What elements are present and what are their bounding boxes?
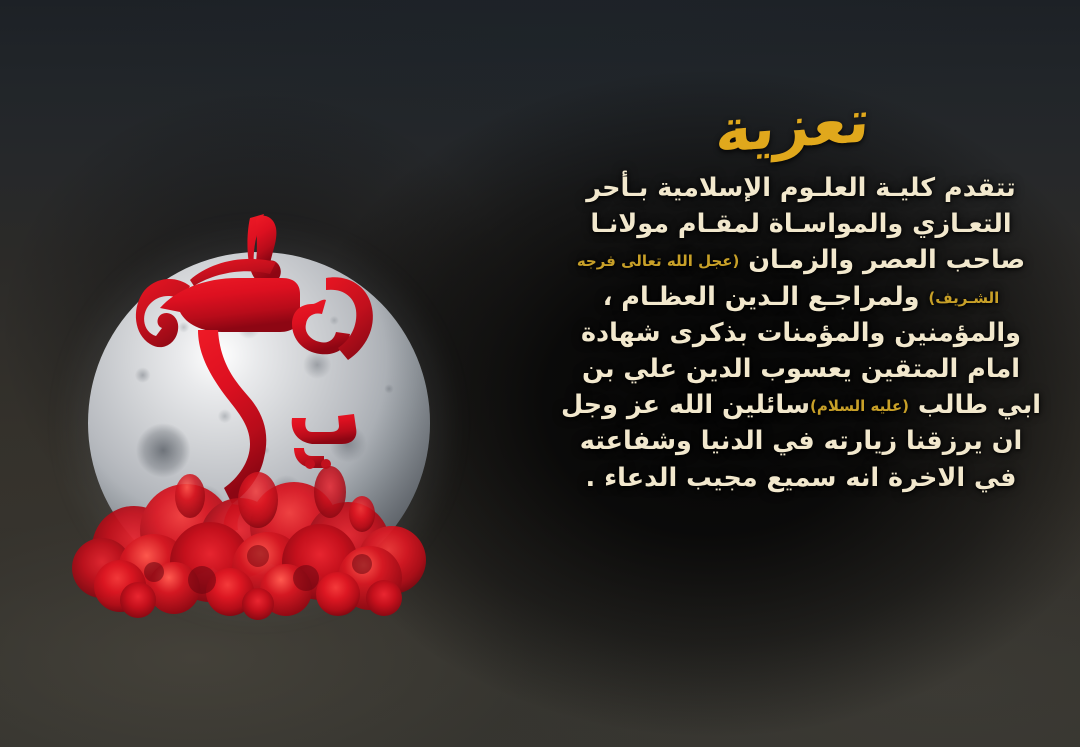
- full-moon-icon: [88, 252, 430, 594]
- body-line-3: صاحب العصر والزمـان (عجل الله تعالى فرجه: [540, 242, 1062, 278]
- annotation-alayhi-salam: (عليه السلام): [810, 397, 909, 415]
- condolence-poster: تعزية تتقدم كليـة العلـوم الإسلامية بـأح…: [0, 0, 1080, 747]
- body-line-5: والمؤمنين والمؤمنات بذكرى شهادة: [540, 315, 1062, 351]
- body-line-1: تتقدم كليـة العلـوم الإسلامية بـأحر: [540, 170, 1062, 206]
- body-line-4-text: ولمراجـع الـدين العظـام ،: [603, 282, 929, 312]
- body-line-4: الشـريف) ولمراجـع الـدين العظـام ،: [540, 279, 1062, 315]
- annotation-ajjalallah: (عجل الله تعالى فرجه: [577, 252, 740, 270]
- moon-artwork: [62, 226, 462, 646]
- moon-wrapper: [88, 252, 430, 594]
- body-line-7: ابي طالب (عليه السلام)سائلين الله عز وجل: [540, 387, 1062, 423]
- body-line-7-text: ابي طالب: [909, 390, 1041, 420]
- body-line-6: امام المتقين يعسوب الدين علي بن: [540, 351, 1062, 387]
- text-column: تعزية تتقدم كليـة العلـوم الإسلامية بـأح…: [532, 96, 1072, 496]
- body-line-8: ان يرزقنا زيارته في الدنيا وشفاعته: [540, 423, 1062, 459]
- body-line-2: التعـازي والمواسـاة لمقـام مولانـا: [540, 206, 1062, 242]
- body-line-9: في الاخرة انه سميع مجيب الدعاء .: [540, 460, 1062, 496]
- body-line-3-text: صاحب العصر والزمـان: [739, 245, 1025, 275]
- annotation-sharif: الشـريف): [928, 289, 999, 307]
- condolence-body: تتقدم كليـة العلـوم الإسلامية بـأحر التع…: [532, 170, 1072, 496]
- body-line-7-text-after: سائلين الله عز وجل: [561, 390, 810, 420]
